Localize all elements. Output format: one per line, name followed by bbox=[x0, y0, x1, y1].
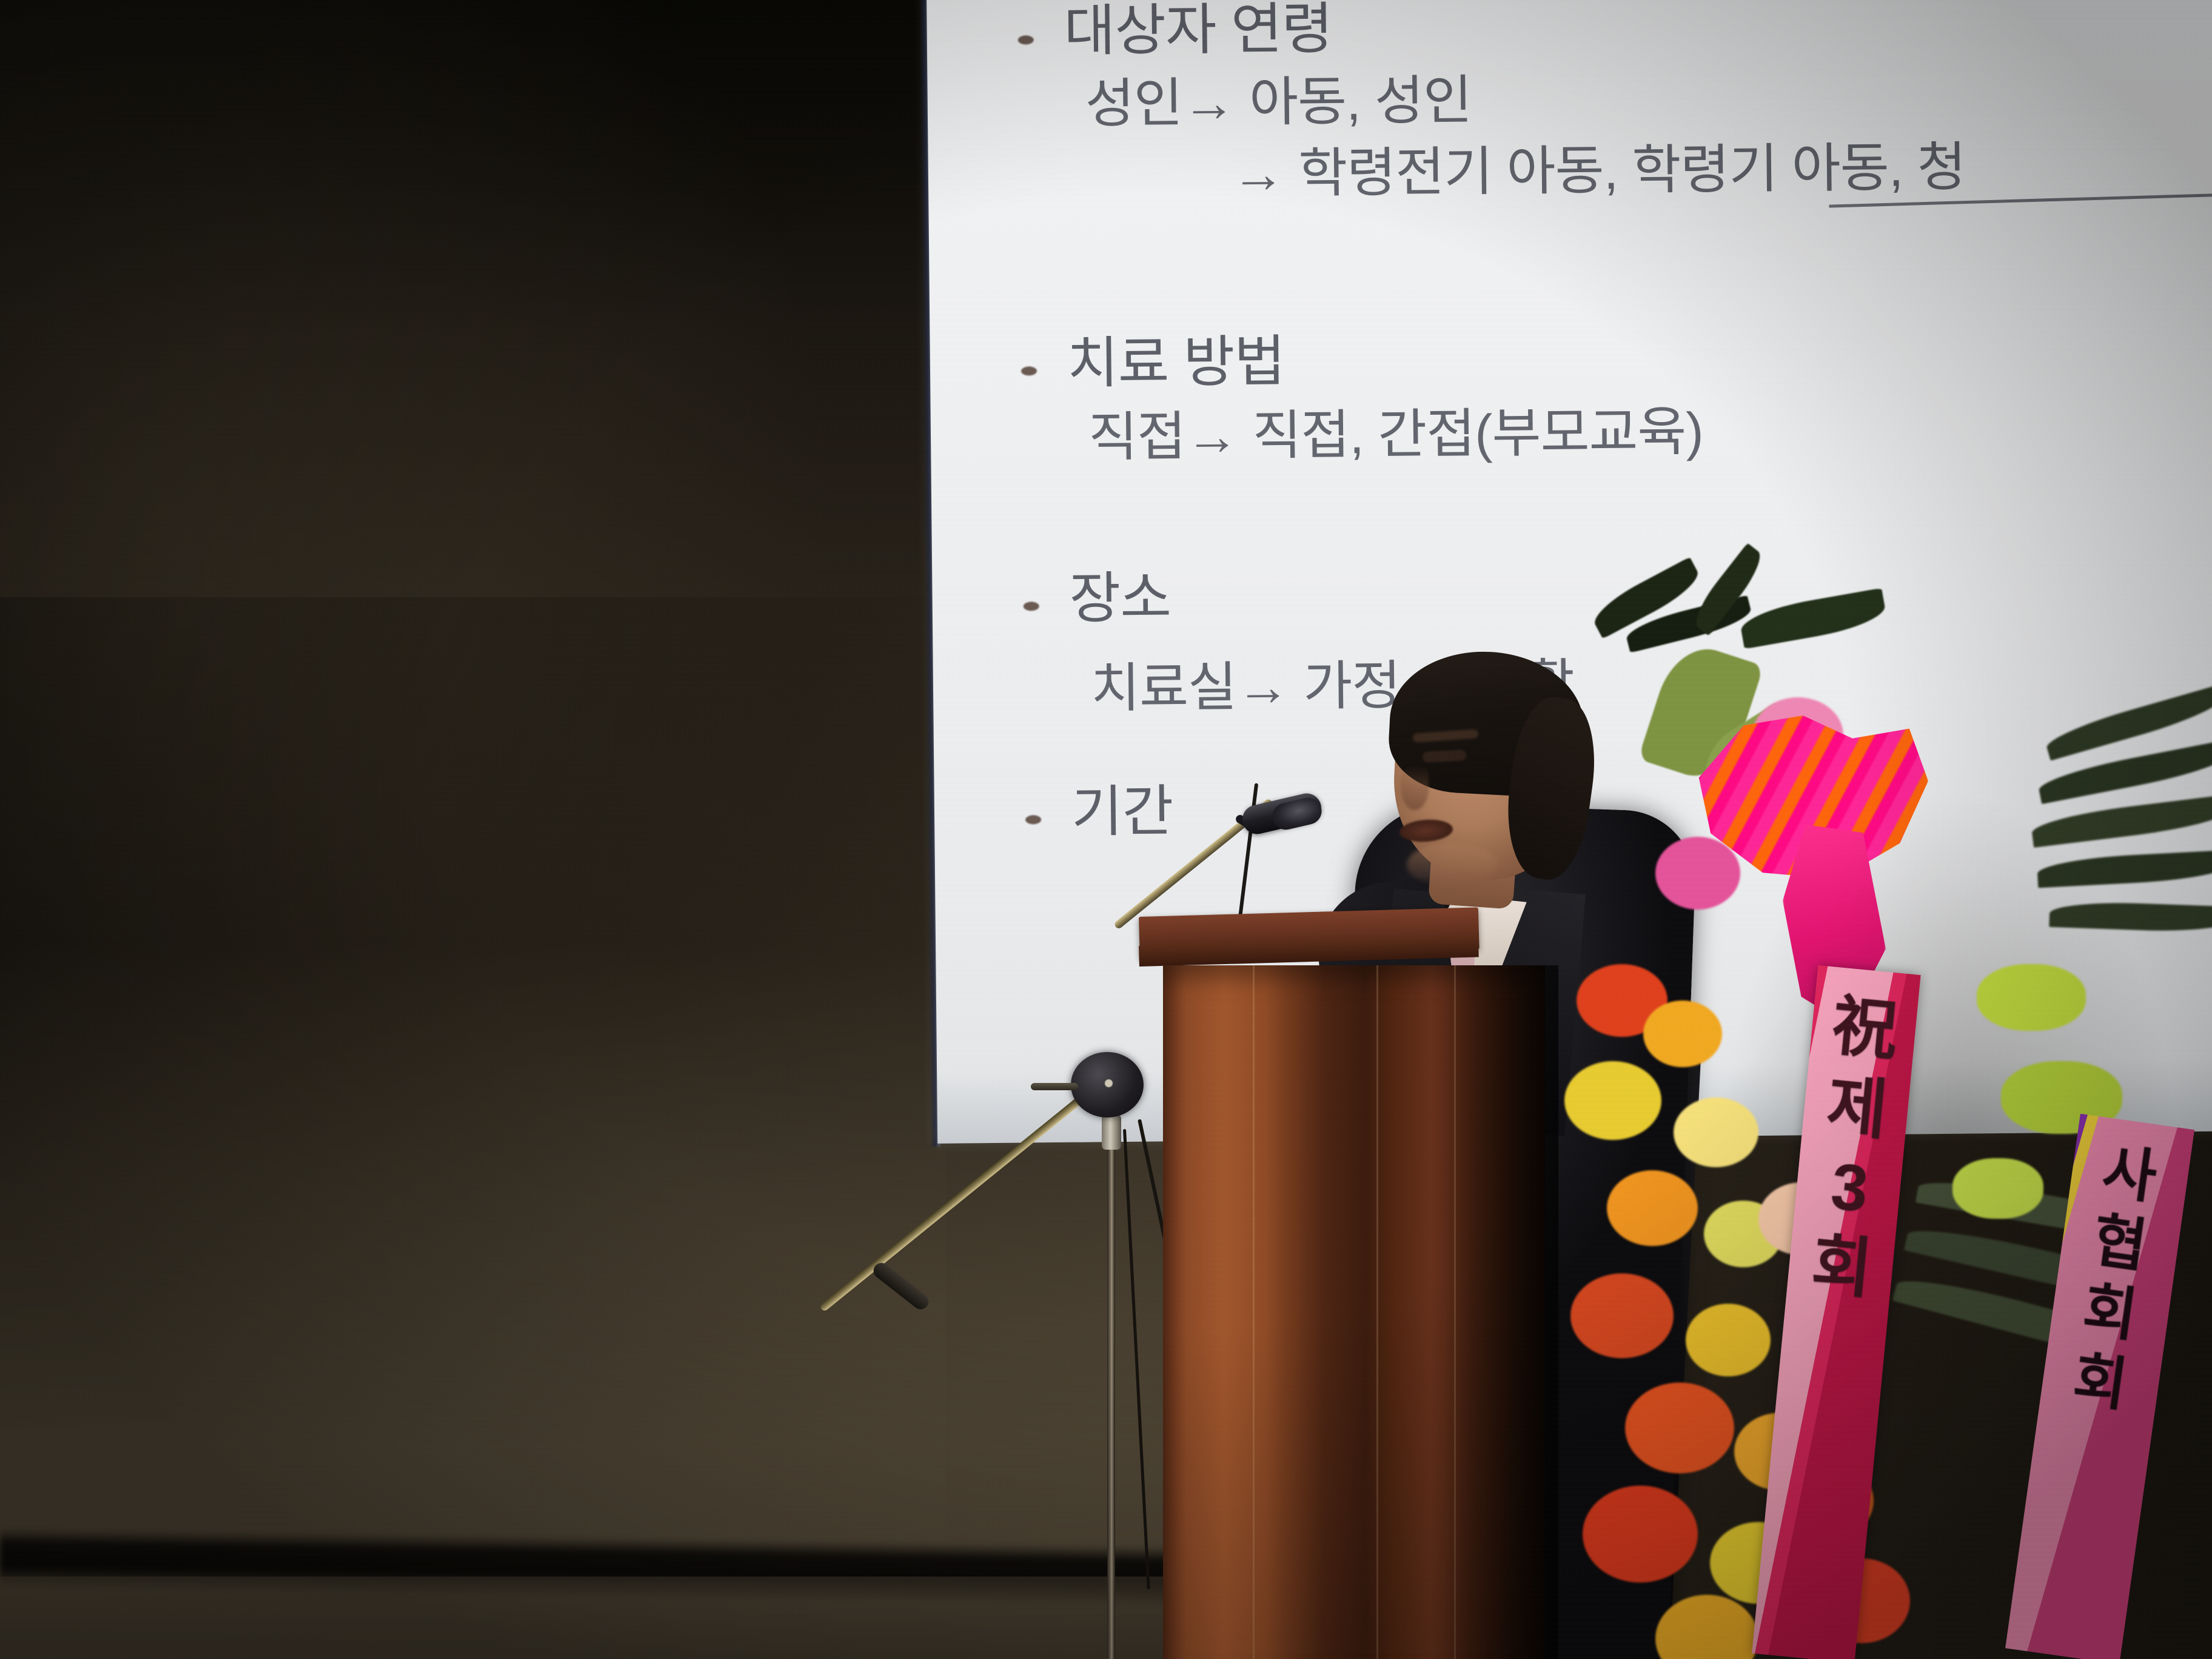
flower-bloom bbox=[1583, 1486, 1698, 1583]
flower-bloom bbox=[1625, 1382, 1734, 1473]
slide-heading-3: 장소 bbox=[1069, 569, 1171, 628]
ribbon-right-char-2: 회 bbox=[2063, 1272, 2157, 1353]
palm-frond bbox=[2049, 900, 2212, 933]
podium-panel-seam bbox=[1376, 965, 1378, 1659]
slide-subline-2-1: 직접→ 직접, 간접(부모교육) bbox=[1088, 404, 1703, 466]
photo-scene: 대상자 연령 성인→ 아동, 성인 → 학령전기 아동, 학령기 아동, 청 치… bbox=[0, 0, 2212, 1659]
slide-content: 대상자 연령 성인→ 아동, 성인 → 학령전기 아동, 학령기 아동, 청 치… bbox=[1017, 0, 2212, 3]
microphone-stand-collar bbox=[1102, 1114, 1121, 1150]
speaker-nose bbox=[1401, 765, 1429, 810]
bullet-marker-3 bbox=[1024, 602, 1039, 611]
slide-heading-1: 대상자 연령 bbox=[1064, 0, 1333, 61]
slide-heading-2: 치료 방법 bbox=[1067, 332, 1285, 393]
slide-subline-1-2-text: → 학령전기 아동, 학령기 아동, 청 bbox=[1231, 137, 1966, 204]
flower-bloom bbox=[1655, 1595, 1758, 1659]
slide-subline-1-2: → 학령전기 아동, 학령기 아동, 청 bbox=[1231, 139, 1966, 203]
flower-bloom bbox=[1607, 1170, 1698, 1246]
foliage-accent bbox=[1952, 1158, 2043, 1219]
flower-bloom bbox=[1655, 837, 1740, 910]
speaker-chin bbox=[1407, 843, 1498, 886]
bullet-marker-2 bbox=[1021, 366, 1037, 375]
foliage-accent bbox=[1977, 964, 2086, 1031]
ribbon-left-char-0: 祝 bbox=[1825, 985, 1905, 1071]
slide-subline-1-1: 성인→ 아동, 성인 bbox=[1085, 72, 1472, 132]
ribbon-left-char-3: 회 bbox=[1802, 1224, 1882, 1310]
foliage-leaf bbox=[1738, 588, 1888, 649]
flower-bloom bbox=[1686, 1304, 1771, 1376]
flower-bloom bbox=[1643, 1000, 1722, 1067]
bullet-marker-4 bbox=[1025, 815, 1041, 824]
ribbon-right-char-3: 회 bbox=[2054, 1341, 2148, 1423]
ribbon-right-char-1: 협 bbox=[2073, 1203, 2167, 1284]
flower-bloom bbox=[1570, 1273, 1674, 1358]
speaker-eye bbox=[1423, 749, 1467, 763]
palm-frond bbox=[2030, 794, 2212, 848]
microphone-hub-highlight bbox=[1105, 1079, 1113, 1087]
slide-heading-4: 기간 bbox=[1071, 782, 1173, 842]
palm-frond bbox=[2037, 850, 2212, 888]
ribbon-right-char-0: 사 bbox=[2083, 1134, 2177, 1215]
ribbon-left-char-2: 3 bbox=[1809, 1144, 1889, 1231]
podium-shadow bbox=[1443, 965, 1558, 1659]
podium-panel-seam bbox=[1253, 965, 1255, 1659]
microphone-stand-pole bbox=[1107, 1134, 1115, 1659]
microphone-adjust-knob bbox=[1031, 1083, 1078, 1090]
flower-bloom bbox=[1564, 1061, 1661, 1140]
bullet-marker-1 bbox=[1018, 35, 1034, 44]
ribbon-left-char-1: 제 bbox=[1817, 1064, 1897, 1151]
flower-bloom bbox=[1674, 1098, 1758, 1167]
